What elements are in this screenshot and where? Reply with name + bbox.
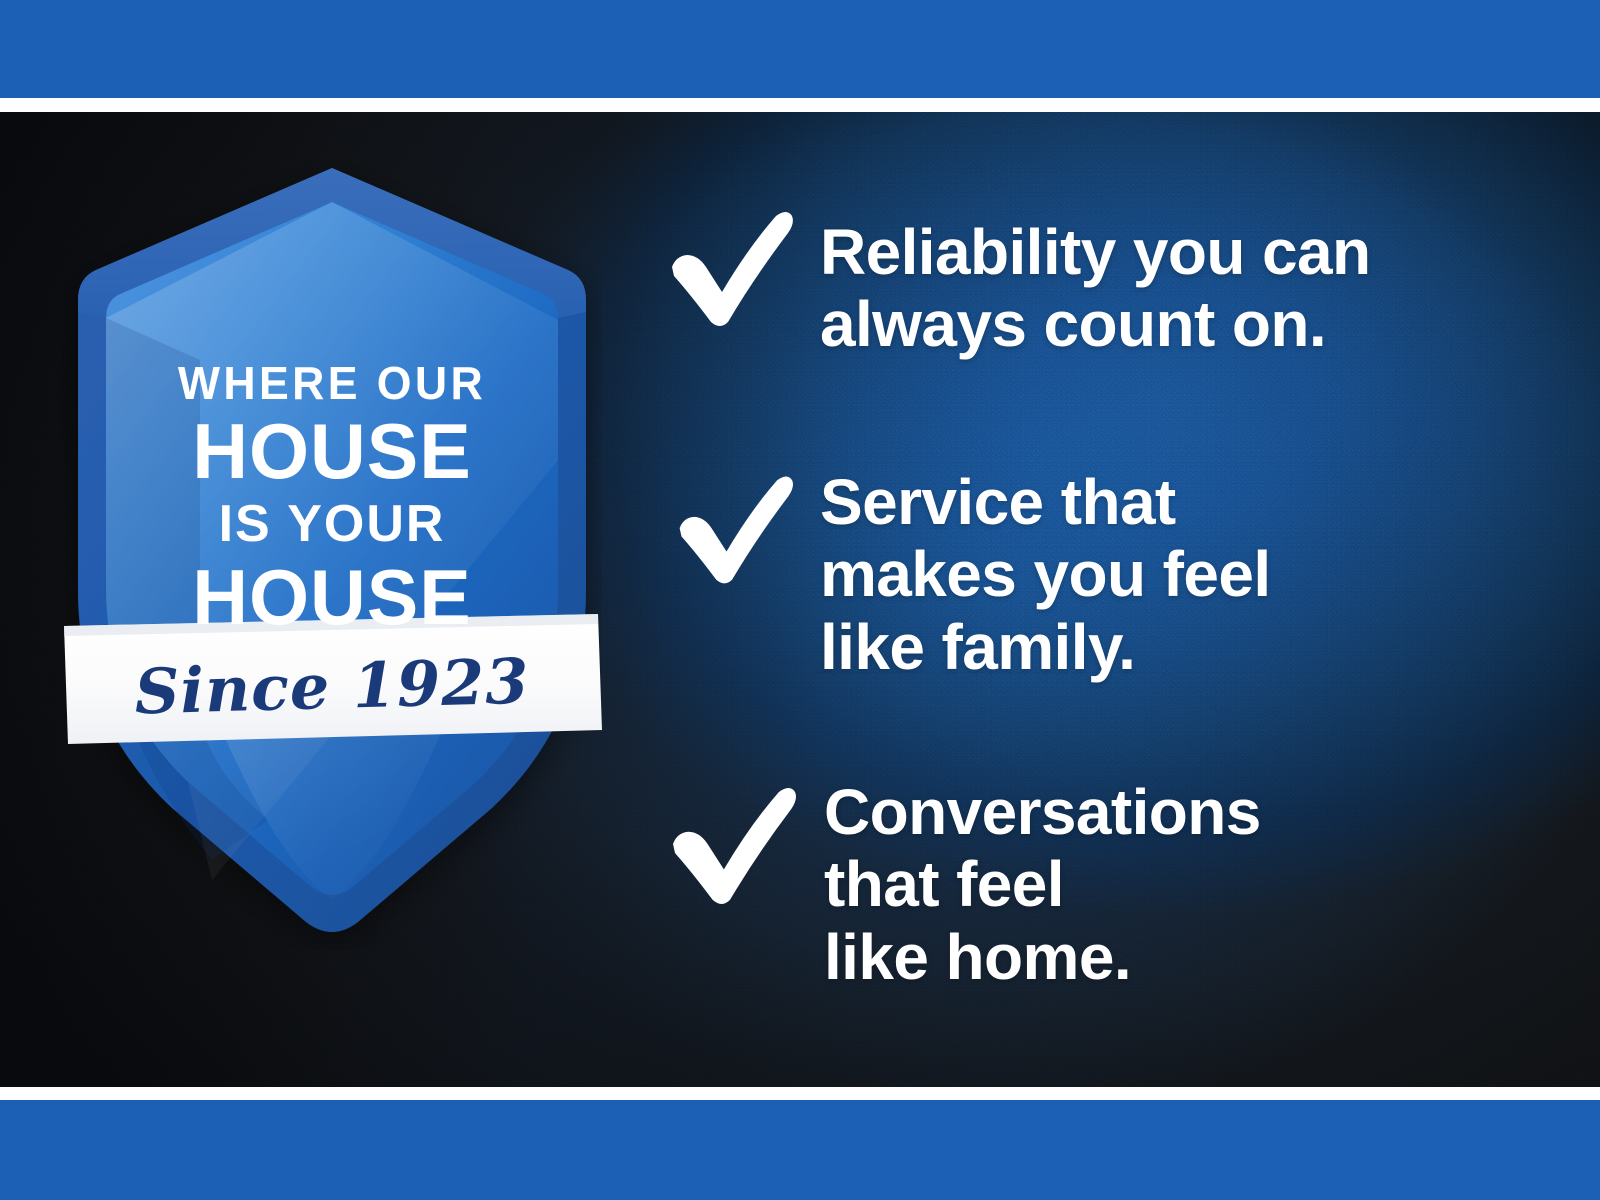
benefit-item-3: Conversations that feel like home. [666, 774, 1261, 993]
shield-badge: WHERE OUR HOUSE IS YOUR HOUSE Since 1923 [62, 160, 602, 950]
benefit-item-1: Reliability you can always count on. [666, 210, 1371, 361]
checkmark-icon [666, 786, 798, 904]
promo-graphic: WHERE OUR HOUSE IS YOUR HOUSE Since 1923… [0, 0, 1600, 1200]
ribbon [64, 614, 602, 744]
top-brand-bar [0, 0, 1600, 98]
checkmark-icon [674, 474, 794, 584]
benefit-text-2: Service that makes you feel like family. [820, 466, 1271, 683]
benefit-list: Reliability you can always count on. Ser… [666, 112, 1526, 1087]
bottom-brand-bar [0, 1100, 1600, 1200]
benefit-text-1: Reliability you can always count on. [820, 216, 1371, 361]
benefit-item-2: Service that makes you feel like family. [674, 464, 1271, 683]
benefit-text-3: Conversations that feel like home. [824, 776, 1261, 993]
checkmark-icon [666, 210, 794, 326]
